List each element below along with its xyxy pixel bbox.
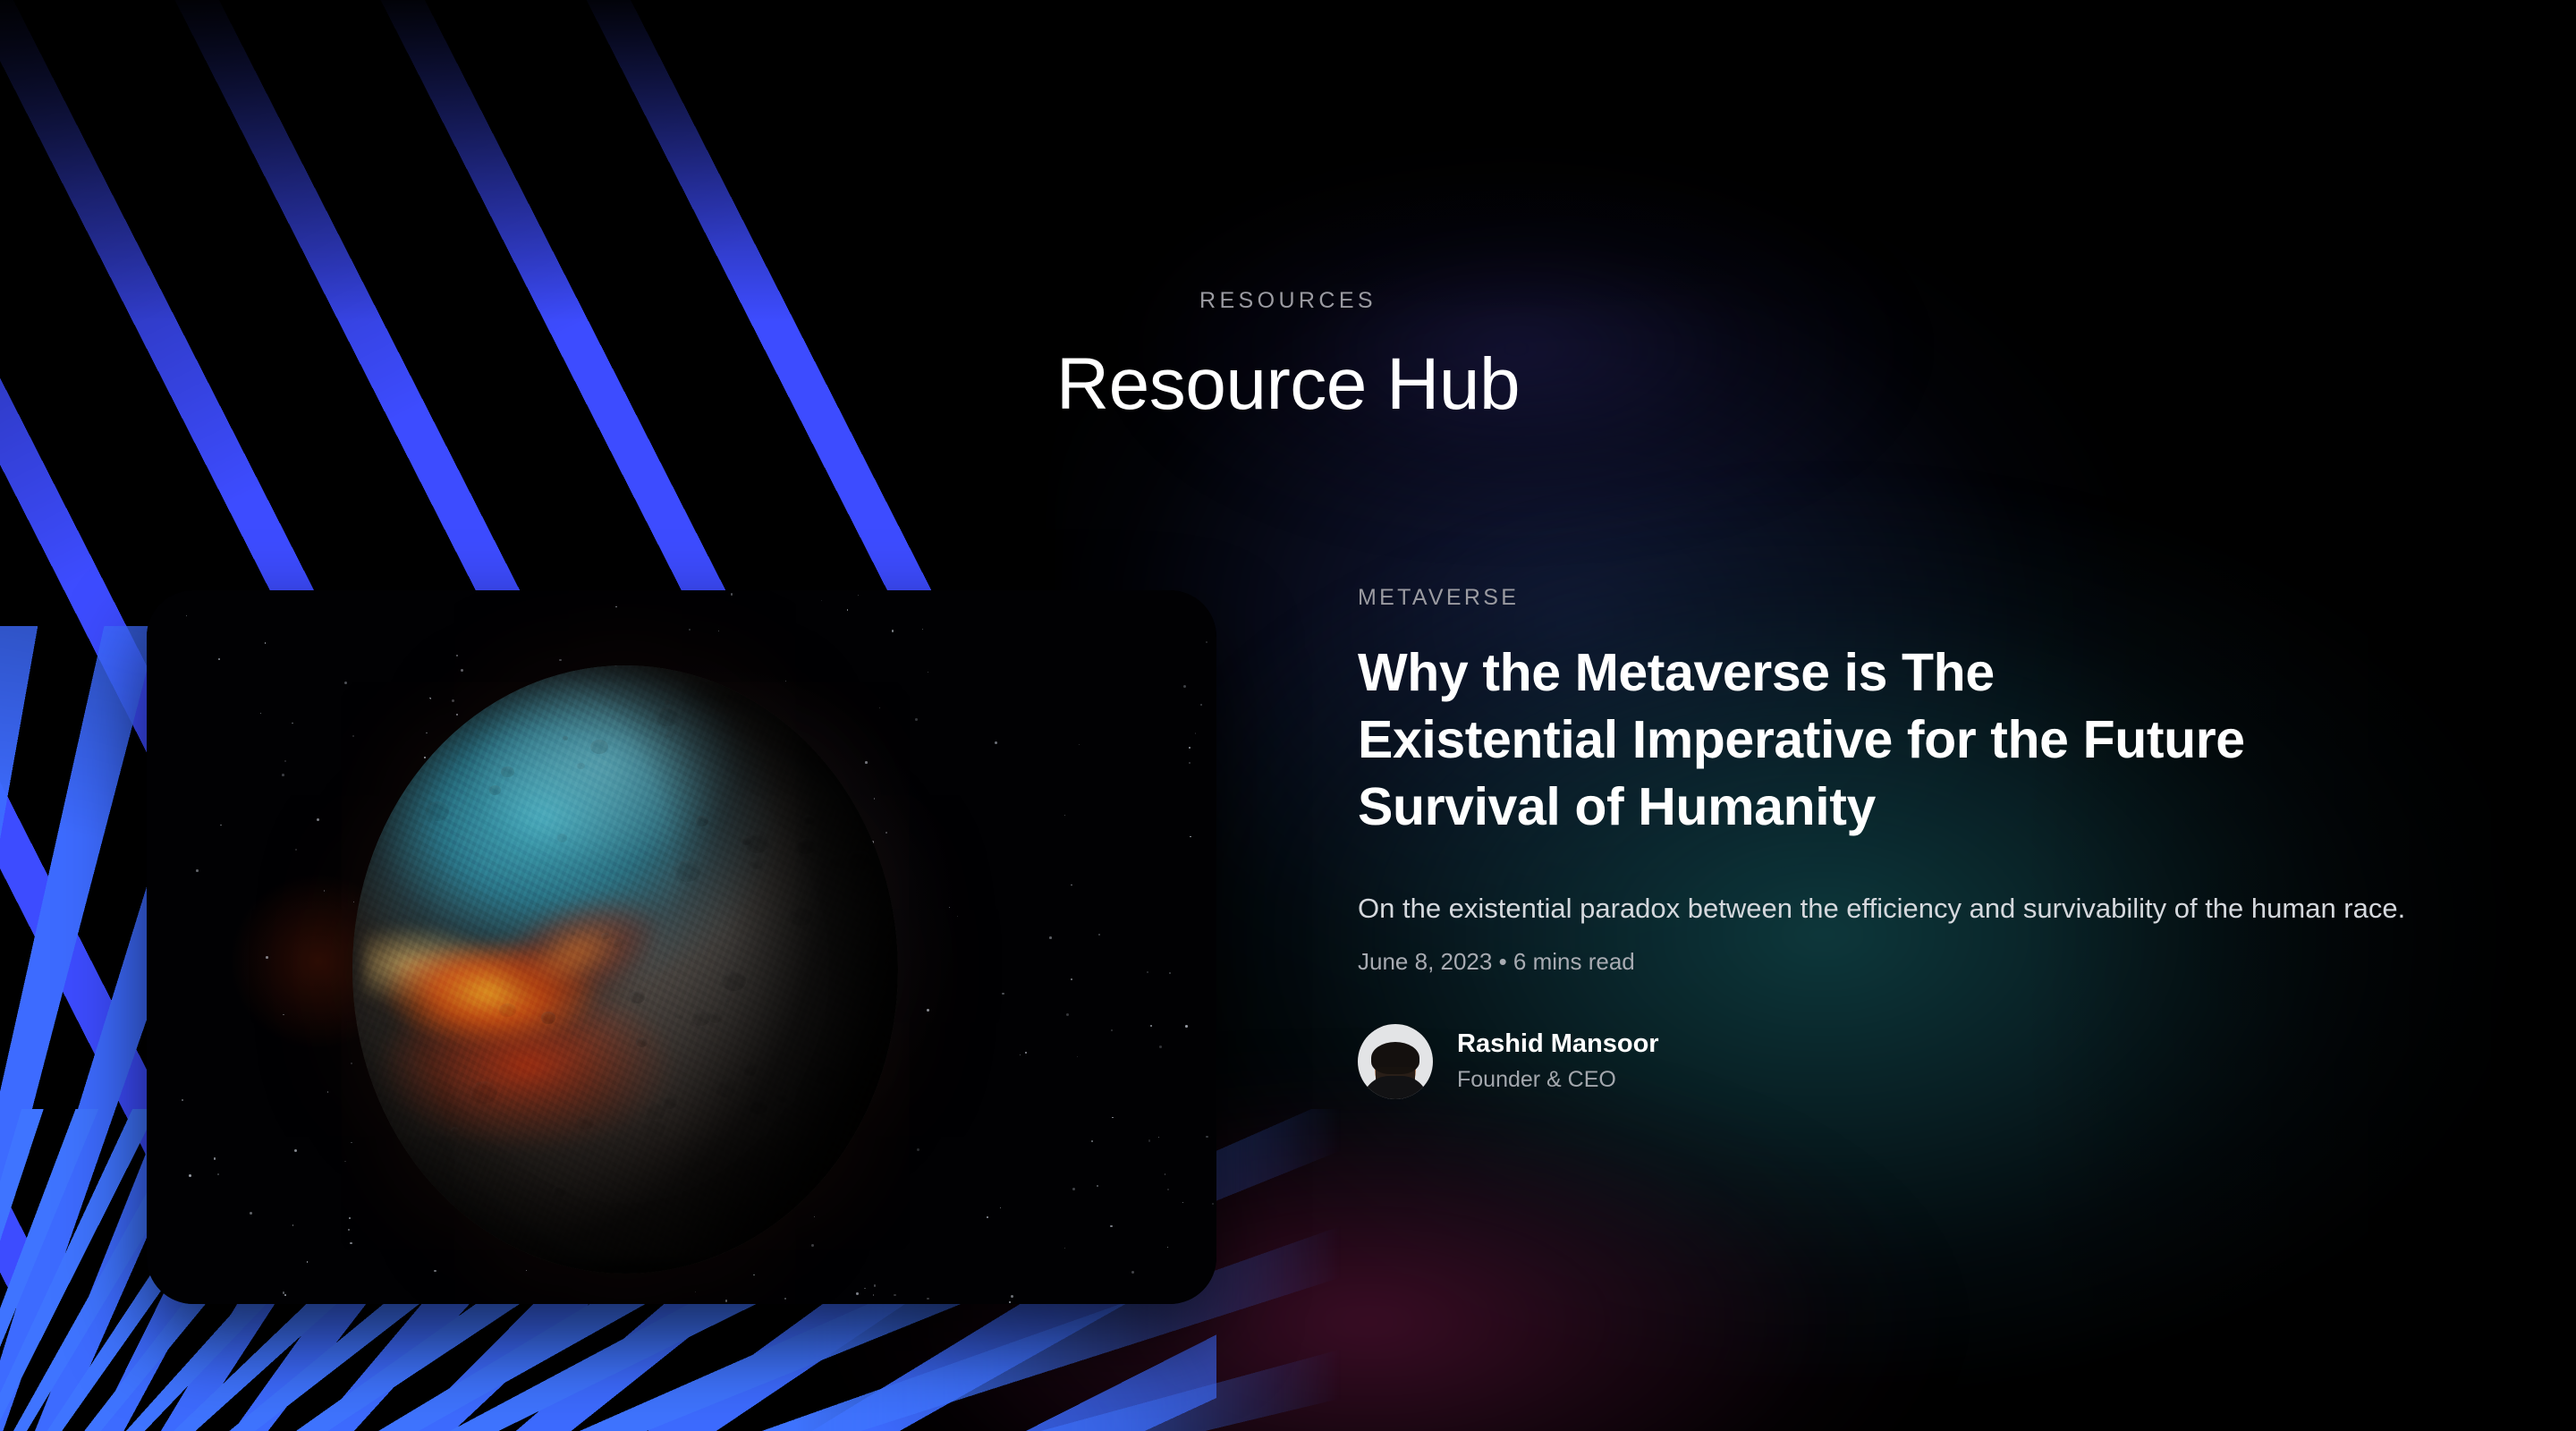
planet-illustration <box>352 665 898 1274</box>
author-text-block: Rashid Mansoor Founder & CEO <box>1457 1029 1659 1093</box>
article-title[interactable]: Why the Metaverse is The Existential Imp… <box>1358 639 2261 841</box>
hero-eyebrow: RESOURCES <box>0 288 2576 314</box>
planet-rim <box>352 665 898 1274</box>
featured-article-content: METAVERSE Why the Metaverse is The Exist… <box>1358 585 2467 1099</box>
resource-hub-page: RESOURCES Resource Hub METAVERSE Why the… <box>0 0 2576 1431</box>
avatar-body <box>1362 1076 1428 1099</box>
hero-header: RESOURCES Resource Hub <box>0 0 2576 427</box>
article-meta: June 8, 2023 • 6 mins read <box>1358 948 2467 976</box>
author-role: Founder & CEO <box>1457 1067 1659 1093</box>
author-name: Rashid Mansoor <box>1457 1029 1659 1059</box>
article-description: On the existential paradox between the e… <box>1358 889 2445 928</box>
featured-article-thumbnail[interactable] <box>147 590 1216 1304</box>
avatar <box>1358 1024 1433 1099</box>
article-author[interactable]: Rashid Mansoor Founder & CEO <box>1358 1024 2467 1099</box>
article-category-label[interactable]: METAVERSE <box>1358 585 2467 611</box>
page-title: Resource Hub <box>0 343 2576 427</box>
